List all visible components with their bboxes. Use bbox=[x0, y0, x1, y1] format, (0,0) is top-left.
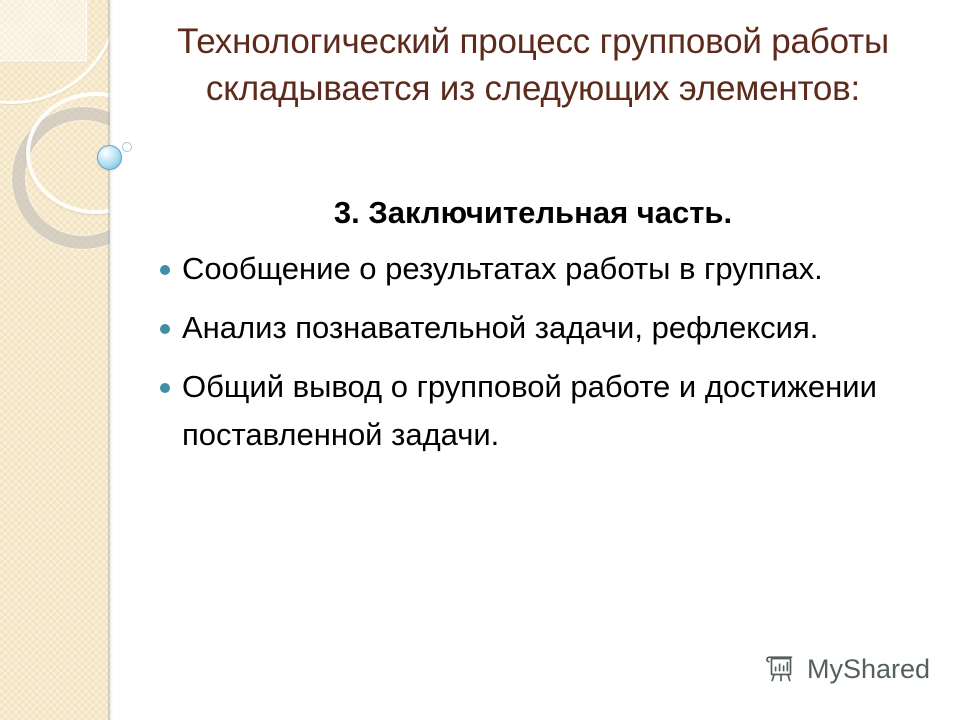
list-item-label: Сообщение о результатах работы в группах… bbox=[182, 245, 950, 293]
cream-arc bbox=[0, 0, 110, 104]
watermark: MyShared bbox=[764, 652, 930, 686]
list-item-label: Общий вывод о групповой работе и достиже… bbox=[182, 363, 950, 459]
slide-content: Технологический процесс групповой работы… bbox=[110, 0, 960, 720]
bullet-dot-icon bbox=[160, 265, 170, 275]
decorative-sidebar bbox=[0, 0, 110, 720]
bullet-dot-icon bbox=[160, 383, 170, 393]
slide-canvas: Технологический процесс групповой работы… bbox=[0, 0, 960, 720]
slide-subtitle: 3. Заключительная часть. bbox=[128, 193, 938, 233]
slide-title: Технологический процесс групповой работы… bbox=[128, 18, 938, 112]
bullet-dot-icon bbox=[160, 324, 170, 334]
presentation-chart-icon bbox=[764, 652, 798, 686]
list-item: Общий вывод о групповой работе и достиже… bbox=[150, 363, 950, 459]
list-item: Сообщение о результатах работы в группах… bbox=[150, 245, 950, 293]
watermark-label: MyShared bbox=[807, 654, 930, 684]
list-item: Анализ познавательной задачи, рефлексия. bbox=[150, 304, 950, 352]
bullet-list: Сообщение о результатах работы в группах… bbox=[150, 245, 950, 470]
list-item-label: Анализ познавательной задачи, рефлексия. bbox=[182, 304, 950, 352]
